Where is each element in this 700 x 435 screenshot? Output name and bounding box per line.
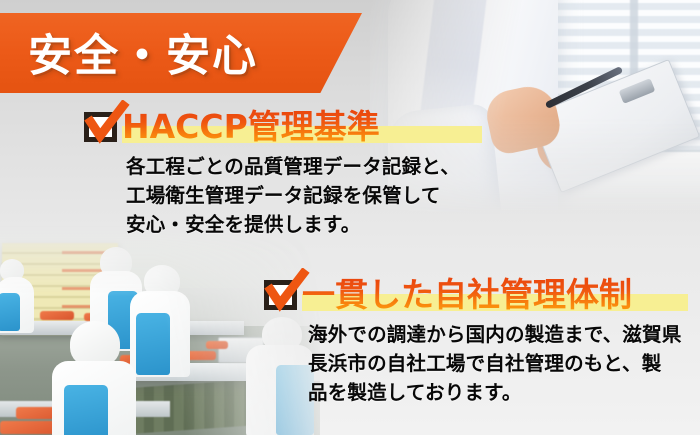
body-line: 工場衛生管理データ記録を保管して (126, 182, 484, 211)
factory-worker (52, 321, 138, 435)
section-heading-wrap: HACCP管理基準 (122, 110, 484, 144)
worker-apron (0, 293, 20, 331)
worker-apron (64, 385, 108, 435)
body-line: 各工程ごとの品質管理データ記録と、 (126, 153, 484, 182)
checkmark-icon (262, 268, 310, 314)
header-banner: 安全・安心 (0, 13, 362, 93)
factory-worker (130, 265, 192, 377)
section-body: 海外での調達から国内の製造まで、滋賀県 長浜市の自社工場で自社管理のもと、製 品… (308, 321, 694, 408)
body-line: 長浜市の自社工場で自社管理のもと、製 (308, 350, 694, 379)
section-haccp: HACCP管理基準 各工程ごとの品質管理データ記録と、 工場衛生管理データ記録を… (84, 100, 484, 240)
product-pile (206, 341, 228, 349)
section-heading: HACCP管理基準 (122, 107, 380, 146)
section-heading-row: 一貫した自社管理体制 (264, 268, 694, 312)
promo-banner-stage: 安全・安心 HACCP管理基準 各工程ごとの品質管理データ記録と、 工場衛生管理… (0, 0, 700, 435)
banner-title: 安全・安心 (28, 20, 258, 84)
checkbox-checked-icon (84, 108, 120, 142)
section-heading: 一貫した自社管理体制 (302, 275, 632, 314)
body-line: 海外での調達から国内の製造まで、滋賀県 (308, 321, 694, 350)
body-line: 品を製造しております。 (308, 379, 694, 408)
checkbox-checked-icon (264, 276, 300, 310)
section-in-house-management: 一貫した自社管理体制 海外での調達から国内の製造まで、滋賀県 長浜市の自社工場で… (264, 268, 694, 408)
product-pile (40, 311, 74, 320)
section-heading-row: HACCP管理基準 (84, 100, 484, 144)
checkmark-icon (82, 100, 130, 146)
section-body: 各工程ごとの品質管理データ記録と、 工場衛生管理データ記録を保管して 安心・安全… (126, 153, 484, 240)
factory-worker (0, 259, 36, 333)
body-line: 安心・安全を提供します。 (126, 211, 484, 240)
section-heading-wrap: 一貫した自社管理体制 (302, 278, 694, 312)
worker-apron (136, 313, 170, 375)
